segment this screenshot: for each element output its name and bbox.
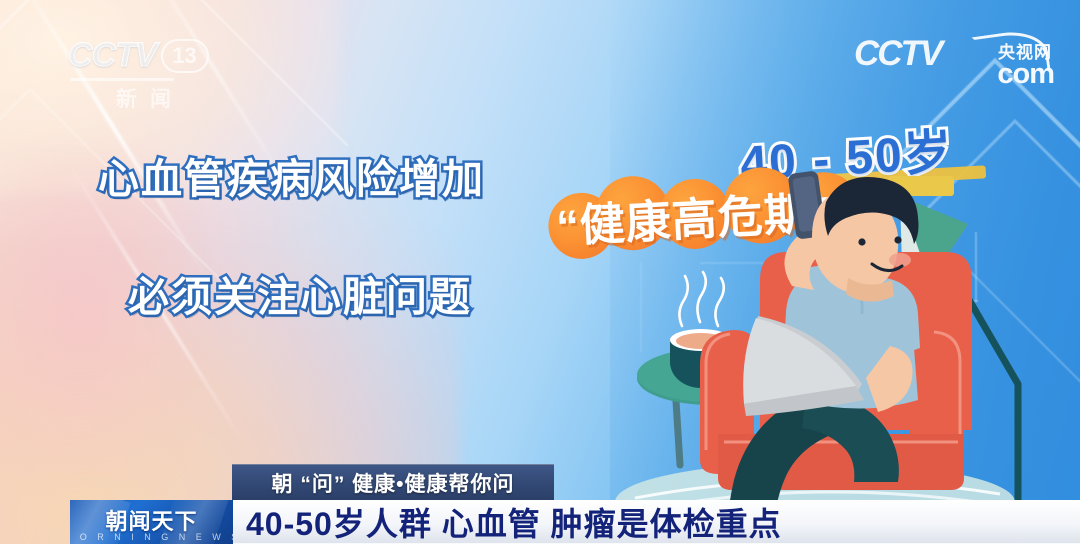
overlay-line-1: 心血管疾病风险增加	[98, 145, 485, 205]
cctv13-channel-logo: CCTV 13 新闻	[68, 36, 236, 108]
overlay-line-2: 必须关注心脏问题	[128, 263, 472, 323]
headline-bar: 40-50岁人群 心血管 肿瘤是体检重点	[232, 500, 1080, 544]
sub-banner: 朝 “问” 健康•健康帮你问	[232, 464, 554, 500]
broadcast-screen: CCTV 13 新闻 CCTV 央视网 com 心血管疾病风险增加 必须关注心脏…	[0, 0, 1080, 544]
cctv-com-watermark: CCTV 央视网 com	[854, 36, 1054, 90]
headline-text: 40-50岁人群 心血管 肿瘤是体检重点	[246, 499, 782, 544]
channel-sub-label: 新闻	[80, 83, 220, 113]
logo-underline	[70, 78, 174, 81]
sub-banner-text: 朝 “问” 健康•健康帮你问	[271, 468, 514, 498]
program-logo-en: M O R N I N G N E W S	[70, 532, 233, 542]
channel-number-badge: 13	[161, 39, 209, 73]
illustration-scene	[600, 150, 1080, 544]
cctv-wordmark: CCTV	[68, 36, 157, 75]
cctv-watermark-domain: com	[997, 58, 1054, 91]
program-logo: 朝闻天下 M O R N I N G N E W S	[70, 500, 233, 544]
